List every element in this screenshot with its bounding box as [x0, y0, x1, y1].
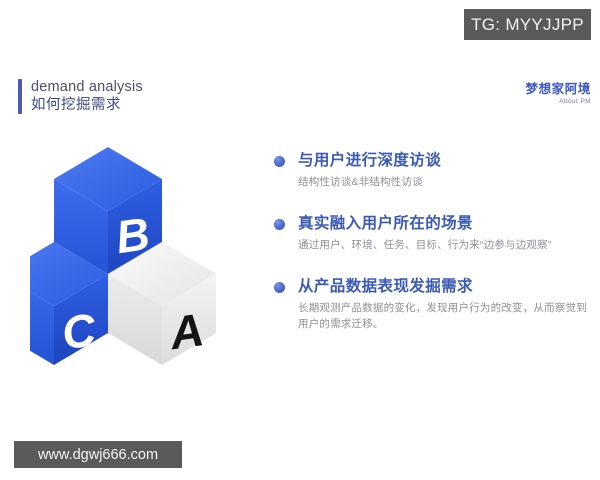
bullet-item: 与用户进行深度访谈 结构性访谈&非结构性访谈 [272, 150, 590, 190]
bullet-dot-icon [274, 219, 285, 230]
bullet-item: 真实融入用户所在的场景 通过用户、环境、任务、目标、行为来“边参与边观察” [272, 213, 590, 253]
tg-watermark-badge: TG: MYYJJPP [464, 9, 591, 40]
bullet-subtitle: 通过用户、环境、任务、目标、行为来“边参与边观察” [298, 237, 590, 253]
brand-logo: 梦想家阿境 About PM [525, 82, 591, 106]
svg-text:A: A [166, 303, 207, 359]
bullet-dot-icon [274, 156, 285, 167]
bullet-heading: 与用户进行深度访谈 [298, 150, 590, 171]
bullet-subtitle: 长期观测产品数据的变化，发现用户行为的改变，从而察觉到用户的需求迁移。 [298, 300, 590, 332]
bullet-subtitle: 结构性访谈&非结构性访谈 [298, 174, 590, 190]
slide-title-block: demand analysis 如何挖掘需求 [18, 79, 143, 114]
title-texts: demand analysis 如何挖掘需求 [31, 79, 143, 114]
bullet-heading: 从产品数据表现发掘需求 [298, 276, 590, 297]
bullet-item: 从产品数据表现发掘需求 长期观测产品数据的变化，发现用户行为的改变，从而察觉到用… [272, 276, 590, 332]
brand-name: 梦想家阿境 [525, 82, 591, 96]
bullet-dot-icon [274, 282, 285, 293]
footer-url-watermark: www.dgwj666.com [14, 441, 182, 468]
title-chinese: 如何挖掘需求 [31, 96, 143, 114]
title-accent-bar [18, 79, 22, 114]
bullet-list: 与用户进行深度访谈 结构性访谈&非结构性访谈 真实融入用户所在的场景 通过用户、… [272, 150, 590, 332]
brand-subtitle: About PM [525, 97, 591, 106]
isometric-cubes-illustration: B C A [30, 135, 250, 365]
title-english: demand analysis [31, 79, 143, 96]
bullet-heading: 真实融入用户所在的场景 [298, 213, 590, 234]
